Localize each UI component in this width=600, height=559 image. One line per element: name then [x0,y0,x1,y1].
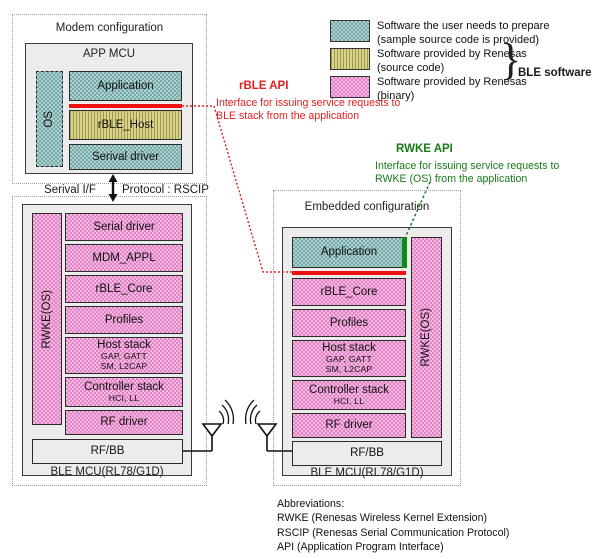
modem-ble-block-1: MDM_APPL [65,244,183,272]
embedded-block-1: rBLE_Core [292,278,406,306]
modem-ble-block-5-label: Controller stack [84,381,164,394]
embedded-block-5: RF driver [292,413,406,438]
legend-bracket-label: BLE software [518,67,592,79]
embedded-rble-api-bar [292,271,406,275]
modem-ble-block-2: rBLE_Core [65,275,183,303]
modem-ble-block-2-label: rBLE_Core [96,283,153,296]
serial-if-label: Serival I/F [30,184,110,196]
rble-api-annotation-title: rBLE API [239,80,288,92]
legend: Software the user needs to prepare (samp… [330,20,595,96]
embedded-block-1-label: rBLE_Core [321,286,378,299]
embedded-block-4-sub: HCI, LL [334,397,365,407]
modem-ble-rwke-os-label: RWKE(OS) [41,290,54,349]
abbreviations-heading: Abbreviations: [277,497,344,512]
rble-api-annotation-body: Interface for issuing service requests t… [216,97,446,123]
left-radio-waves-icon [219,400,233,424]
embedded-block-application-label: Application [321,246,377,259]
embedded-rwke-os-block: RWKE(OS) [411,237,442,438]
rwke-api-annotation-body: Interface for issuing service requests t… [375,160,600,186]
embedded-block-3: Host stack GAP, GATT SM, L2CAP [292,340,406,377]
modem-ble-block-5: Controller stack HCI, LL [65,377,183,407]
embedded-block-2: Profiles [292,309,406,337]
modem-ble-rfbb-block: RF/BB [32,439,183,464]
modem-block-serial-driver-label: Serival driver [92,151,159,164]
embedded-block-3-sub: GAP, GATT SM, L2CAP [326,355,373,374]
embedded-ble-mcu-footer: BLE MCU(RL78/G1D) [282,467,452,479]
modem-ble-block-6: RF driver [65,410,183,435]
modem-ble-rwke-os-block: RWKE(OS) [32,213,62,425]
embedded-block-5-label: RF driver [325,419,372,432]
modem-ble-block-3-label: Profiles [105,314,143,327]
modem-ble-rfbb-label: RF/BB [91,445,125,458]
modem-block-application-label: Application [97,80,153,93]
right-radio-waves-icon [246,400,260,424]
modem-os-label: OS [43,111,56,128]
legend-swatch-pink-checker [330,76,370,98]
modem-block-serial-driver: Serival driver [69,144,182,170]
modem-rble-api-bar [69,104,182,108]
embedded-rwke-api-bar [402,237,407,268]
modem-ble-block-4: Host stack GAP, GATT SM, L2CAP [65,337,183,374]
modem-block-application: Application [69,71,182,101]
embedded-rwke-os-label: RWKE(OS) [420,308,433,367]
abbreviations-list: RWKE (Renesas Wireless Kernel Extension)… [277,511,587,555]
modem-ble-mcu-footer: BLE MCU(RL78/G1D) [22,466,192,478]
modem-block-rble-host: rBLE_Host [69,110,182,140]
modem-ble-block-1-label: MDM_APPL [92,252,155,265]
modem-configuration-title: Modem configuration [12,22,207,34]
modem-ble-block-6-label: RF driver [100,416,147,429]
modem-ble-block-0: Serial driver [65,213,183,241]
legend-label-0: Software the user needs to prepare (samp… [377,20,585,48]
modem-os-block: OS [36,71,63,167]
legend-swatch-olive-stripe [330,48,370,70]
embedded-block-application: Application [292,237,406,268]
modem-ble-block-0-label: Serial driver [93,221,154,234]
embedded-block-4: Controller stack HCI, LL [292,380,406,410]
embedded-rfbb-block: RF/BB [292,441,442,466]
app-mcu-title: APP MCU [25,48,193,60]
legend-row-0: Software the user needs to prepare (samp… [330,20,585,48]
modem-ble-block-3: Profiles [65,306,183,334]
rwke-api-annotation-title: RWKE API [396,143,453,155]
modem-ble-block-4-sub: GAP, GATT SM, L2CAP [101,352,148,371]
embedded-rfbb-label: RF/BB [350,447,384,460]
modem-ble-block-5-sub: HCI, LL [109,394,140,404]
legend-swatch-teal-checker [330,20,370,42]
embedded-block-2-label: Profiles [330,317,368,330]
rscip-protocol-label: Protocol : RSCIP [122,184,212,196]
embedded-configuration-title: Embedded configuration [273,201,461,213]
embedded-block-4-label: Controller stack [309,384,389,397]
modem-block-rble-host-label: rBLE_Host [98,119,154,132]
